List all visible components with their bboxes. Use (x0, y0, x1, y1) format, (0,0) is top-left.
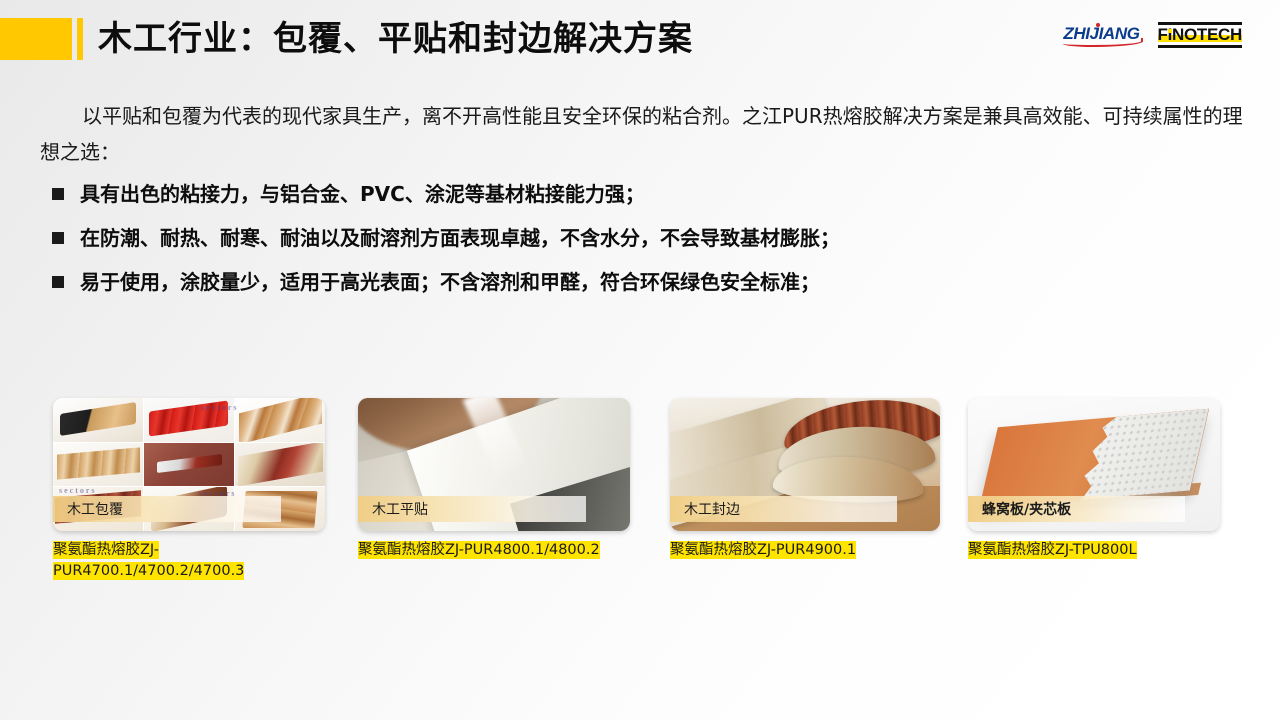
overlay-label: 木工封边 (684, 499, 740, 519)
image-caption-overlay: 木工包覆 (53, 496, 281, 522)
product-caption-text: 聚氨酯热熔胶ZJ-PUR4900.1 (670, 541, 856, 559)
overlay-label: 蜂窝板/夹芯板 (982, 499, 1071, 519)
zhijiang-dot-icon (1096, 23, 1100, 27)
bullet-text: 易于使用，涂胶量少，适用于高光表面；不含溶剂和甲醛，符合环保绿色安全标准； (80, 266, 820, 298)
finotech-bottom-bar-icon (1158, 45, 1242, 48)
title-accent-block (0, 18, 72, 60)
finotech-dot-icon (1168, 29, 1172, 33)
product-caption: 聚氨酯热熔胶ZJ-PUR4700.1/4700.2/4700.3 (53, 540, 325, 582)
product-image-wood-wrapping: sectors sectors sectors 木工包覆 (53, 398, 325, 531)
product-card-edge-banding[interactable]: 木工封边 聚氨酯热熔胶ZJ-PUR4900.1 (670, 398, 940, 561)
zhijiang-logo: ZHIJIANG (1061, 23, 1141, 48)
collage-cell (53, 398, 143, 442)
list-item: 具有出色的粘接力，与铝合金、PVC、涂泥等基材粘接能力强； (52, 178, 1252, 222)
list-item: 在防潮、耐热、耐寒、耐油以及耐溶剂方面表现卓越，不含水分，不会导致基材膨胀； (52, 222, 1252, 266)
collage-cell (144, 398, 234, 442)
title-accent-bar (77, 18, 83, 60)
logo-group: ZHIJIANG FINOTECH (1061, 22, 1242, 48)
image-caption-overlay: 蜂窝板/夹芯板 (968, 496, 1185, 522)
page-title: 木工行业：包覆、平贴和封边解决方案 (98, 14, 693, 64)
honeycomb-core-fill (1072, 409, 1209, 501)
product-card-wood-wrapping[interactable]: sectors sectors sectors 木工包覆 聚氨酯热熔胶ZJ-PU… (53, 398, 325, 582)
intro-paragraph: 以平贴和包覆为代表的现代家具生产，离不开高性能且安全环保的粘合剂。之江PUR热熔… (40, 98, 1246, 170)
collage-cell (235, 443, 325, 487)
bullet-text: 在防潮、耐热、耐寒、耐油以及耐溶剂方面表现卓越，不含水分，不会导致基材膨胀； (80, 222, 840, 254)
overlay-label: 木工包覆 (67, 499, 123, 519)
slide-header: 木工行业：包覆、平贴和封边解决方案 ZHIJIANG FINOTECH (0, 0, 1280, 78)
product-image-edge-banding: 木工封边 (670, 398, 940, 531)
finotech-logo-text: FINOTECH (1158, 25, 1242, 44)
overlay-label: 木工平贴 (372, 499, 428, 519)
product-caption-text: 聚氨酯热熔胶ZJ-TPU800L (968, 541, 1137, 559)
bullet-square-icon (52, 188, 64, 200)
product-card-row: sectors sectors sectors 木工包覆 聚氨酯热熔胶ZJ-PU… (0, 398, 1280, 618)
collage-cell (53, 443, 143, 487)
product-caption: 聚氨酯热熔胶ZJ-TPU800L (968, 540, 1220, 561)
list-item: 易于使用，涂胶量少，适用于高光表面；不含溶剂和甲醛，符合环保绿色安全标准； (52, 266, 1252, 310)
collage-cell (144, 443, 234, 487)
bullet-list: 具有出色的粘接力，与铝合金、PVC、涂泥等基材粘接能力强； 在防潮、耐热、耐寒、… (52, 178, 1252, 310)
bullet-square-icon (52, 276, 64, 288)
image-caption-overlay: 木工封边 (670, 496, 897, 522)
product-caption: 聚氨酯热熔胶ZJ-PUR4900.1 (670, 540, 940, 561)
zhijiang-logo-text: ZHIJIANG (1063, 24, 1139, 43)
finotech-logo: FINOTECH (1158, 22, 1242, 48)
product-card-honeycomb-panel[interactable]: 蜂窝板/夹芯板 聚氨酯热熔胶ZJ-TPU800L (968, 398, 1220, 561)
product-card-flat-lamination[interactable]: 木工平贴 聚氨酯热熔胶ZJ-PUR4800.1/4800.2 (358, 398, 630, 561)
product-image-flat-lamination: 木工平贴 (358, 398, 630, 531)
product-caption-text: 聚氨酯热熔胶ZJ-PUR4800.1/4800.2 (358, 541, 600, 559)
product-image-honeycomb-panel: 蜂窝板/夹芯板 (968, 398, 1220, 531)
collage-cell (235, 398, 325, 442)
product-caption-text: 聚氨酯热熔胶ZJ-PUR4700.1/4700.2/4700.3 (53, 541, 244, 580)
bullet-square-icon (52, 232, 64, 244)
image-caption-overlay: 木工平贴 (358, 496, 586, 522)
bullet-text: 具有出色的粘接力，与铝合金、PVC、涂泥等基材粘接能力强； (80, 178, 645, 210)
product-caption: 聚氨酯热熔胶ZJ-PUR4800.1/4800.2 (358, 540, 630, 561)
